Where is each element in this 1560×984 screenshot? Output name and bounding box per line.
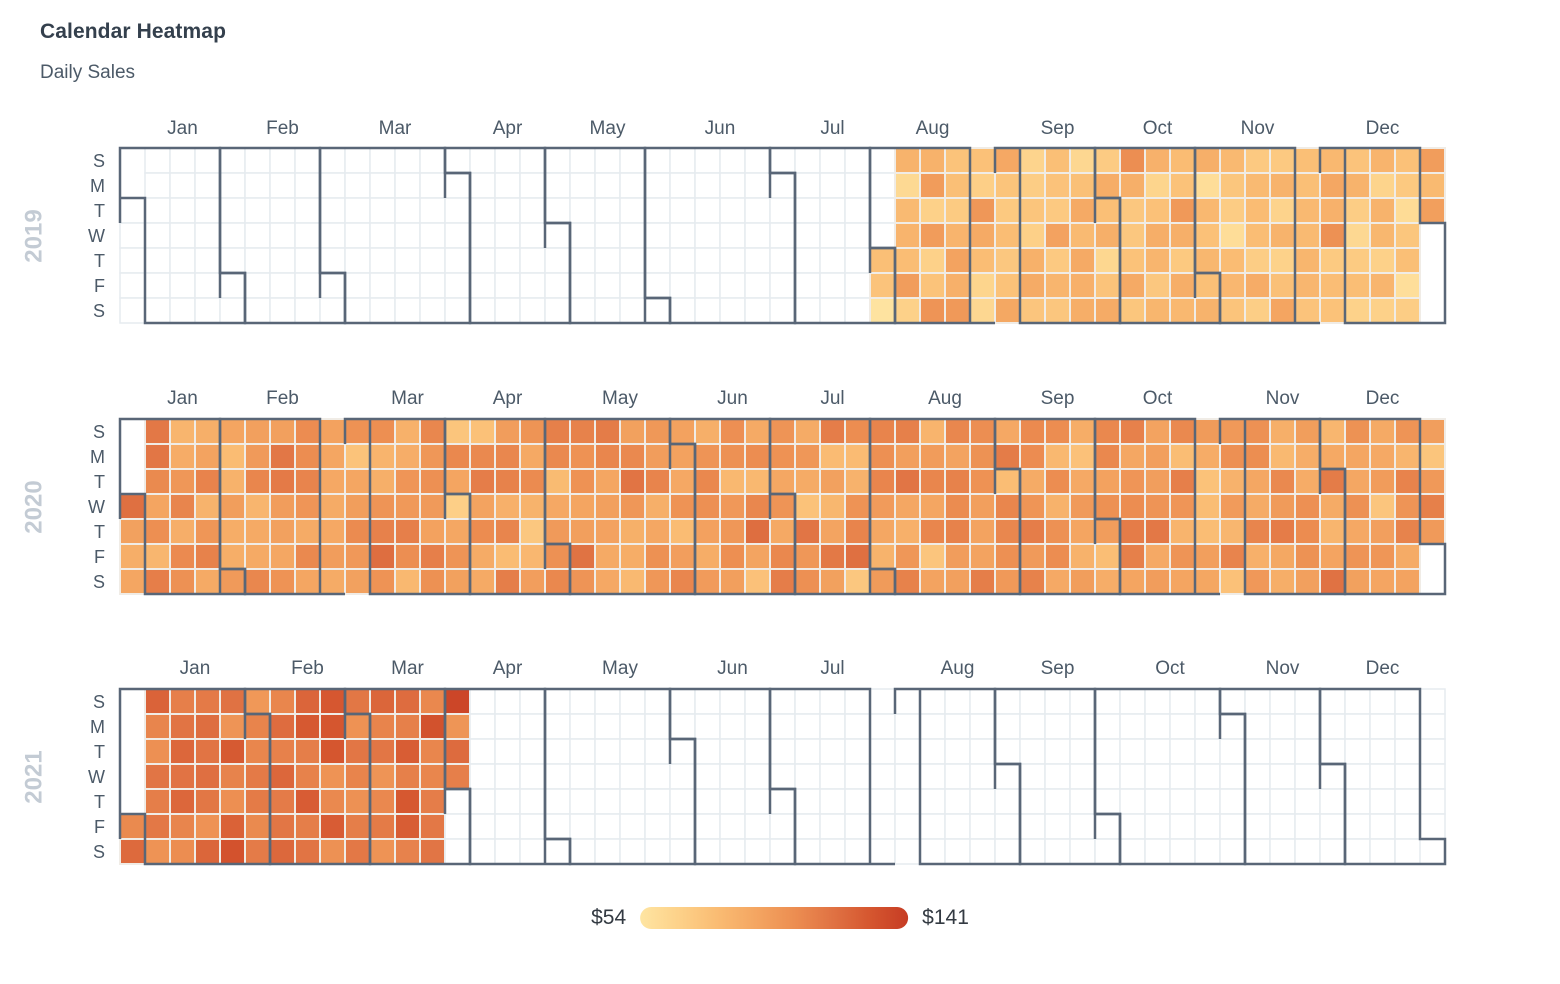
heatmap-cell[interactable] <box>645 444 670 469</box>
heatmap-cell[interactable] <box>270 469 295 494</box>
heatmap-cell[interactable] <box>1195 494 1220 519</box>
heatmap-cell-empty[interactable] <box>120 223 145 248</box>
heatmap-cell-empty[interactable] <box>1345 714 1370 739</box>
heatmap-cell-empty[interactable] <box>1295 739 1320 764</box>
heatmap-cell[interactable] <box>1320 519 1345 544</box>
heatmap-cell-empty[interactable] <box>470 223 495 248</box>
heatmap-cell[interactable] <box>345 419 370 444</box>
heatmap-cell-empty[interactable] <box>470 764 495 789</box>
heatmap-cell[interactable] <box>1220 469 1245 494</box>
heatmap-cell[interactable] <box>1420 444 1445 469</box>
heatmap-cell-empty[interactable] <box>645 273 670 298</box>
heatmap-cell[interactable] <box>1095 519 1120 544</box>
heatmap-cell-empty[interactable] <box>995 764 1020 789</box>
heatmap-cell-empty[interactable] <box>1195 689 1220 714</box>
heatmap-cell-empty[interactable] <box>1345 814 1370 839</box>
heatmap-cell[interactable] <box>870 444 895 469</box>
heatmap-cell[interactable] <box>1245 419 1270 444</box>
heatmap-cell[interactable] <box>1370 198 1395 223</box>
heatmap-cell[interactable] <box>145 689 170 714</box>
heatmap-cell-empty[interactable] <box>345 223 370 248</box>
heatmap-cell[interactable] <box>1195 223 1220 248</box>
heatmap-cell[interactable] <box>1070 148 1095 173</box>
heatmap-cell[interactable] <box>870 544 895 569</box>
heatmap-cell[interactable] <box>295 569 320 594</box>
heatmap-cell[interactable] <box>1045 419 1070 444</box>
heatmap-cell-empty[interactable] <box>1070 764 1095 789</box>
heatmap-cell[interactable] <box>895 469 920 494</box>
heatmap-cell-empty[interactable] <box>570 739 595 764</box>
heatmap-cell[interactable] <box>1345 148 1370 173</box>
heatmap-cell-empty[interactable] <box>695 689 720 714</box>
heatmap-cell-empty[interactable] <box>1095 739 1120 764</box>
heatmap-cell-empty[interactable] <box>745 273 770 298</box>
heatmap-cell[interactable] <box>895 273 920 298</box>
heatmap-cell[interactable] <box>245 444 270 469</box>
heatmap-cell-empty[interactable] <box>195 223 220 248</box>
heatmap-cell-empty[interactable] <box>1370 839 1395 864</box>
heatmap-cell[interactable] <box>270 789 295 814</box>
heatmap-cell[interactable] <box>295 494 320 519</box>
heatmap-cell-empty[interactable] <box>195 173 220 198</box>
heatmap-cell[interactable] <box>320 519 345 544</box>
heatmap-cell-empty[interactable] <box>970 839 995 864</box>
heatmap-cell-empty[interactable] <box>345 173 370 198</box>
heatmap-cell-empty[interactable] <box>1120 739 1145 764</box>
heatmap-cell[interactable] <box>1370 148 1395 173</box>
heatmap-cell[interactable] <box>570 419 595 444</box>
heatmap-cell[interactable] <box>995 273 1020 298</box>
heatmap-cell[interactable] <box>945 248 970 273</box>
heatmap-cell[interactable] <box>470 469 495 494</box>
heatmap-cell[interactable] <box>770 494 795 519</box>
heatmap-cell[interactable] <box>170 839 195 864</box>
heatmap-cell[interactable] <box>220 519 245 544</box>
heatmap-cell-empty[interactable] <box>845 273 870 298</box>
heatmap-cell[interactable] <box>1295 273 1320 298</box>
heatmap-cell[interactable] <box>920 223 945 248</box>
heatmap-cell-empty[interactable] <box>445 814 470 839</box>
heatmap-cell-empty[interactable] <box>1420 764 1445 789</box>
heatmap-cell[interactable] <box>920 519 945 544</box>
heatmap-cell-empty[interactable] <box>1220 689 1245 714</box>
heatmap-cell-empty[interactable] <box>1045 689 1070 714</box>
heatmap-cell[interactable] <box>170 519 195 544</box>
heatmap-cell[interactable] <box>495 519 520 544</box>
heatmap-cell-empty[interactable] <box>870 814 895 839</box>
heatmap-cell[interactable] <box>1245 569 1270 594</box>
heatmap-cell-empty[interactable] <box>520 764 545 789</box>
heatmap-cell[interactable] <box>745 419 770 444</box>
heatmap-cell-empty[interactable] <box>1370 789 1395 814</box>
heatmap-cell-empty[interactable] <box>695 789 720 814</box>
heatmap-cell[interactable] <box>1220 298 1245 323</box>
heatmap-cell-empty[interactable] <box>1070 739 1095 764</box>
heatmap-cell-empty[interactable] <box>845 814 870 839</box>
heatmap-cell[interactable] <box>1120 469 1145 494</box>
heatmap-cell[interactable] <box>970 273 995 298</box>
heatmap-cell[interactable] <box>1395 198 1420 223</box>
heatmap-cell[interactable] <box>595 494 620 519</box>
heatmap-cell[interactable] <box>945 198 970 223</box>
heatmap-cell[interactable] <box>270 419 295 444</box>
heatmap-cell-empty[interactable] <box>1220 839 1245 864</box>
heatmap-cell-empty[interactable] <box>1145 814 1170 839</box>
heatmap-cell[interactable] <box>945 469 970 494</box>
heatmap-cell[interactable] <box>845 519 870 544</box>
heatmap-cell[interactable] <box>1395 544 1420 569</box>
heatmap-cell-empty[interactable] <box>270 248 295 273</box>
heatmap-cell-empty[interactable] <box>845 173 870 198</box>
heatmap-cell-empty[interactable] <box>395 173 420 198</box>
heatmap-cell[interactable] <box>1020 173 1045 198</box>
heatmap-cell[interactable] <box>1220 273 1245 298</box>
heatmap-cell[interactable] <box>1270 173 1295 198</box>
heatmap-cell[interactable] <box>1395 248 1420 273</box>
heatmap-cell[interactable] <box>620 469 645 494</box>
heatmap-cell[interactable] <box>1145 519 1170 544</box>
heatmap-cell-empty[interactable] <box>1145 789 1170 814</box>
heatmap-cell-empty[interactable] <box>770 173 795 198</box>
heatmap-cell-empty[interactable] <box>145 298 170 323</box>
heatmap-cell-empty[interactable] <box>420 148 445 173</box>
heatmap-cell[interactable] <box>145 789 170 814</box>
heatmap-cell[interactable] <box>320 839 345 864</box>
heatmap-cell-empty[interactable] <box>795 273 820 298</box>
heatmap-cell-empty[interactable] <box>1220 814 1245 839</box>
heatmap-cell[interactable] <box>445 444 470 469</box>
heatmap-cell-empty[interactable] <box>1195 739 1220 764</box>
heatmap-cell-empty[interactable] <box>795 689 820 714</box>
heatmap-cell-empty[interactable] <box>1370 739 1395 764</box>
heatmap-cell[interactable] <box>995 198 1020 223</box>
heatmap-cell-empty[interactable] <box>495 173 520 198</box>
heatmap-cell[interactable] <box>1020 298 1045 323</box>
heatmap-cell[interactable] <box>720 494 745 519</box>
heatmap-cell[interactable] <box>1045 148 1070 173</box>
heatmap-cell[interactable] <box>370 469 395 494</box>
heatmap-cell-empty[interactable] <box>295 223 320 248</box>
heatmap-cell-empty[interactable] <box>745 298 770 323</box>
heatmap-cell[interactable] <box>1345 248 1370 273</box>
heatmap-cell-empty[interactable] <box>520 298 545 323</box>
heatmap-cell-empty[interactable] <box>820 764 845 789</box>
heatmap-cell[interactable] <box>1020 519 1045 544</box>
heatmap-cell[interactable] <box>120 544 145 569</box>
heatmap-cell-empty[interactable] <box>795 198 820 223</box>
heatmap-cell-empty[interactable] <box>1070 689 1095 714</box>
heatmap-cell-empty[interactable] <box>345 273 370 298</box>
heatmap-cell[interactable] <box>245 569 270 594</box>
heatmap-cell[interactable] <box>1245 198 1270 223</box>
heatmap-cell[interactable] <box>1195 198 1220 223</box>
heatmap-cell[interactable] <box>670 519 695 544</box>
heatmap-cell[interactable] <box>295 419 320 444</box>
heatmap-cell[interactable] <box>420 544 445 569</box>
heatmap-cell[interactable] <box>1020 544 1045 569</box>
heatmap-cell[interactable] <box>1245 148 1270 173</box>
heatmap-cell[interactable] <box>320 494 345 519</box>
heatmap-cell[interactable] <box>1345 173 1370 198</box>
heatmap-cell[interactable] <box>520 444 545 469</box>
heatmap-cell[interactable] <box>870 273 895 298</box>
heatmap-cell[interactable] <box>170 689 195 714</box>
heatmap-cell[interactable] <box>920 544 945 569</box>
heatmap-cell[interactable] <box>1295 173 1320 198</box>
heatmap-cell[interactable] <box>895 569 920 594</box>
heatmap-cell[interactable] <box>620 569 645 594</box>
heatmap-cell[interactable] <box>620 544 645 569</box>
heatmap-cell[interactable] <box>470 419 495 444</box>
heatmap-cell[interactable] <box>570 494 595 519</box>
heatmap-cell-empty[interactable] <box>670 298 695 323</box>
heatmap-cell-empty[interactable] <box>1295 764 1320 789</box>
heatmap-cell-empty[interactable] <box>1020 714 1045 739</box>
heatmap-cell-empty[interactable] <box>470 198 495 223</box>
heatmap-cell[interactable] <box>1095 223 1120 248</box>
heatmap-cell[interactable] <box>220 764 245 789</box>
heatmap-cell[interactable] <box>395 444 420 469</box>
heatmap-cell[interactable] <box>1370 494 1395 519</box>
heatmap-cell-empty[interactable] <box>370 198 395 223</box>
heatmap-cell-empty[interactable] <box>270 298 295 323</box>
heatmap-cell-empty[interactable] <box>770 839 795 864</box>
heatmap-cell-empty[interactable] <box>1145 739 1170 764</box>
heatmap-cell-empty[interactable] <box>1320 789 1345 814</box>
heatmap-cell[interactable] <box>145 469 170 494</box>
heatmap-cell-empty[interactable] <box>695 839 720 864</box>
heatmap-cell-empty[interactable] <box>470 839 495 864</box>
heatmap-cell[interactable] <box>695 494 720 519</box>
heatmap-cell-empty[interactable] <box>1295 814 1320 839</box>
heatmap-cell[interactable] <box>920 148 945 173</box>
heatmap-cell[interactable] <box>270 714 295 739</box>
heatmap-cell-empty[interactable] <box>720 273 745 298</box>
heatmap-cell[interactable] <box>745 544 770 569</box>
heatmap-cell[interactable] <box>170 569 195 594</box>
heatmap-cell[interactable] <box>1370 248 1395 273</box>
heatmap-cell[interactable] <box>945 223 970 248</box>
heatmap-cell-empty[interactable] <box>1045 789 1070 814</box>
heatmap-cell-empty[interactable] <box>370 248 395 273</box>
heatmap-cell[interactable] <box>1145 298 1170 323</box>
heatmap-cell[interactable] <box>1045 223 1070 248</box>
heatmap-cell-empty[interactable] <box>1420 789 1445 814</box>
heatmap-cell[interactable] <box>195 494 220 519</box>
heatmap-cell[interactable] <box>195 419 220 444</box>
heatmap-cell[interactable] <box>1195 173 1220 198</box>
heatmap-cell-empty[interactable] <box>695 148 720 173</box>
heatmap-cell-empty[interactable] <box>445 248 470 273</box>
heatmap-cell-empty[interactable] <box>120 273 145 298</box>
heatmap-cell-empty[interactable] <box>120 198 145 223</box>
heatmap-cell-empty[interactable] <box>620 148 645 173</box>
heatmap-cell[interactable] <box>1395 148 1420 173</box>
heatmap-cell[interactable] <box>145 739 170 764</box>
heatmap-cell[interactable] <box>645 469 670 494</box>
heatmap-cell-empty[interactable] <box>770 689 795 714</box>
heatmap-cell-empty[interactable] <box>1220 789 1245 814</box>
heatmap-cell-empty[interactable] <box>1345 789 1370 814</box>
heatmap-cell[interactable] <box>1095 298 1120 323</box>
heatmap-cell-empty[interactable] <box>670 223 695 248</box>
heatmap-cell[interactable] <box>595 519 620 544</box>
heatmap-cell-empty[interactable] <box>870 739 895 764</box>
heatmap-cell[interactable] <box>145 569 170 594</box>
heatmap-cell-empty[interactable] <box>845 298 870 323</box>
heatmap-cell[interactable] <box>620 494 645 519</box>
heatmap-cell-empty[interactable] <box>845 839 870 864</box>
heatmap-cell-empty[interactable] <box>820 273 845 298</box>
heatmap-cell-empty[interactable] <box>370 173 395 198</box>
heatmap-cell-empty[interactable] <box>220 173 245 198</box>
heatmap-cell-empty[interactable] <box>670 764 695 789</box>
heatmap-cell[interactable] <box>1245 273 1270 298</box>
heatmap-cell[interactable] <box>595 419 620 444</box>
heatmap-cell[interactable] <box>1170 248 1195 273</box>
heatmap-cell-empty[interactable] <box>370 298 395 323</box>
heatmap-cell-empty[interactable] <box>1120 814 1145 839</box>
heatmap-cell-empty[interactable] <box>1295 689 1320 714</box>
heatmap-cell-empty[interactable] <box>995 739 1020 764</box>
heatmap-cell-empty[interactable] <box>320 173 345 198</box>
heatmap-cell[interactable] <box>170 739 195 764</box>
heatmap-cell[interactable] <box>1320 223 1345 248</box>
heatmap-cell-empty[interactable] <box>345 248 370 273</box>
heatmap-cell[interactable] <box>1220 544 1245 569</box>
heatmap-cell[interactable] <box>945 173 970 198</box>
heatmap-cell[interactable] <box>820 544 845 569</box>
heatmap-cell-empty[interactable] <box>695 198 720 223</box>
heatmap-cell[interactable] <box>620 444 645 469</box>
heatmap-cell-empty[interactable] <box>1070 814 1095 839</box>
heatmap-cell[interactable] <box>1145 494 1170 519</box>
heatmap-cell[interactable] <box>520 494 545 519</box>
heatmap-cell[interactable] <box>1270 248 1295 273</box>
heatmap-cell[interactable] <box>1345 494 1370 519</box>
heatmap-cell[interactable] <box>520 519 545 544</box>
heatmap-cell-empty[interactable] <box>820 198 845 223</box>
heatmap-cell[interactable] <box>220 689 245 714</box>
heatmap-cell-empty[interactable] <box>920 714 945 739</box>
heatmap-cell[interactable] <box>770 519 795 544</box>
heatmap-cell[interactable] <box>870 494 895 519</box>
heatmap-cell[interactable] <box>1095 248 1120 273</box>
heatmap-cell-empty[interactable] <box>620 814 645 839</box>
heatmap-cell[interactable] <box>195 789 220 814</box>
heatmap-cell[interactable] <box>495 469 520 494</box>
heatmap-cell[interactable] <box>920 173 945 198</box>
heatmap-cell-empty[interactable] <box>320 198 345 223</box>
heatmap-cell[interactable] <box>1020 494 1045 519</box>
heatmap-cell-empty[interactable] <box>520 173 545 198</box>
heatmap-cell-empty[interactable] <box>820 173 845 198</box>
heatmap-cell[interactable] <box>420 714 445 739</box>
heatmap-cell-empty[interactable] <box>495 248 520 273</box>
heatmap-cell[interactable] <box>1145 444 1170 469</box>
heatmap-cell-empty[interactable] <box>720 198 745 223</box>
heatmap-cell[interactable] <box>970 469 995 494</box>
heatmap-cell-empty[interactable] <box>995 714 1020 739</box>
heatmap-cell-empty[interactable] <box>445 223 470 248</box>
heatmap-cell-empty[interactable] <box>845 714 870 739</box>
heatmap-cell-empty[interactable] <box>270 148 295 173</box>
heatmap-cell-empty[interactable] <box>595 689 620 714</box>
heatmap-cell[interactable] <box>170 469 195 494</box>
heatmap-cell-empty[interactable] <box>820 839 845 864</box>
heatmap-cell-empty[interactable] <box>870 148 895 173</box>
heatmap-cell[interactable] <box>195 469 220 494</box>
heatmap-cell[interactable] <box>970 419 995 444</box>
heatmap-cell-empty[interactable] <box>470 298 495 323</box>
heatmap-cell-empty[interactable] <box>1145 839 1170 864</box>
heatmap-cell[interactable] <box>295 814 320 839</box>
heatmap-cell-empty[interactable] <box>570 689 595 714</box>
heatmap-cell[interactable] <box>620 419 645 444</box>
heatmap-cell[interactable] <box>1145 419 1170 444</box>
heatmap-cell[interactable] <box>245 764 270 789</box>
heatmap-cell-empty[interactable] <box>220 273 245 298</box>
heatmap-cell[interactable] <box>595 444 620 469</box>
heatmap-cell-empty[interactable] <box>1395 714 1420 739</box>
heatmap-cell-empty[interactable] <box>1020 789 1045 814</box>
heatmap-cell[interactable] <box>170 544 195 569</box>
heatmap-cell-empty[interactable] <box>795 298 820 323</box>
heatmap-cell[interactable] <box>1170 444 1195 469</box>
heatmap-cell[interactable] <box>1370 173 1395 198</box>
heatmap-cell[interactable] <box>1195 469 1220 494</box>
heatmap-cell[interactable] <box>470 444 495 469</box>
heatmap-cell-empty[interactable] <box>1045 764 1070 789</box>
heatmap-cell-empty[interactable] <box>220 298 245 323</box>
heatmap-cell[interactable] <box>1070 494 1095 519</box>
heatmap-cell[interactable] <box>1070 519 1095 544</box>
heatmap-cell-empty[interactable] <box>520 198 545 223</box>
heatmap-cell-empty[interactable] <box>1045 739 1070 764</box>
heatmap-cell-empty[interactable] <box>845 198 870 223</box>
heatmap-cell-empty[interactable] <box>945 839 970 864</box>
heatmap-cell-empty[interactable] <box>395 248 420 273</box>
heatmap-cell[interactable] <box>145 494 170 519</box>
heatmap-cell[interactable] <box>1270 223 1295 248</box>
heatmap-cell-empty[interactable] <box>620 714 645 739</box>
heatmap-cell[interactable] <box>1320 248 1345 273</box>
heatmap-cell[interactable] <box>1045 173 1070 198</box>
heatmap-cell-empty[interactable] <box>670 839 695 864</box>
heatmap-cell-empty[interactable] <box>1095 764 1120 789</box>
heatmap-cell[interactable] <box>195 444 220 469</box>
heatmap-cell-empty[interactable] <box>1345 689 1370 714</box>
heatmap-cell-empty[interactable] <box>1020 689 1045 714</box>
heatmap-cell-empty[interactable] <box>495 789 520 814</box>
heatmap-cell[interactable] <box>970 519 995 544</box>
heatmap-cell[interactable] <box>320 569 345 594</box>
heatmap-cell[interactable] <box>1370 298 1395 323</box>
heatmap-cell[interactable] <box>220 814 245 839</box>
heatmap-cell[interactable] <box>1195 298 1220 323</box>
heatmap-cell[interactable] <box>320 444 345 469</box>
heatmap-cell[interactable] <box>995 298 1020 323</box>
heatmap-cell[interactable] <box>320 689 345 714</box>
heatmap-cell[interactable] <box>670 419 695 444</box>
heatmap-cell-empty[interactable] <box>1395 739 1420 764</box>
heatmap-cell-empty[interactable] <box>845 223 870 248</box>
heatmap-cell[interactable] <box>570 544 595 569</box>
heatmap-cell[interactable] <box>995 444 1020 469</box>
heatmap-cell-empty[interactable] <box>1095 814 1120 839</box>
heatmap-cell-empty[interactable] <box>570 198 595 223</box>
heatmap-cell[interactable] <box>1120 273 1145 298</box>
